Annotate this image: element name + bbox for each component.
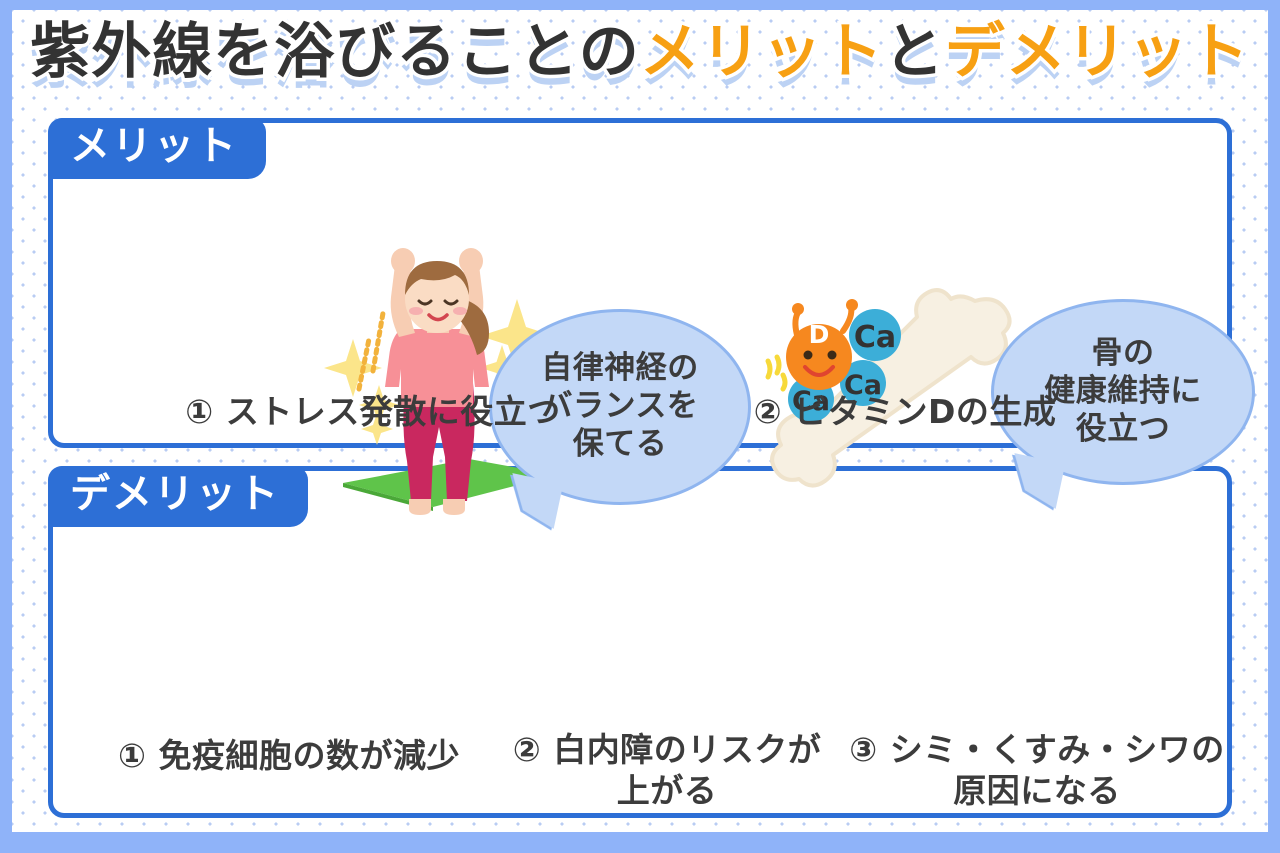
merit-panel: メリット	[48, 118, 1232, 448]
title-part-merit: メリット	[640, 17, 884, 87]
page-title-text: 紫外線を浴びることのメリットとデメリット	[30, 22, 1249, 82]
demerit-caption-1: ① 免疫細胞の数が減少	[61, 735, 517, 776]
shine-lines	[768, 357, 785, 389]
demerit-caption-3: ③ シミ・くすみ・シワの 原因になる	[837, 729, 1237, 812]
title-part-plain-1: 紫外線を浴びることの	[30, 17, 639, 87]
svg-text:Ca: Ca	[854, 320, 896, 355]
svg-text:D: D	[809, 320, 830, 349]
page-title: 紫外線を浴びることのメリットとデメリット 紫外線を浴びることのメリットとデメリッ…	[0, 22, 1280, 82]
demerit-badge: デメリット	[48, 466, 308, 527]
demerit-caption-2: ② 白内障のリスクが 上がる	[481, 729, 853, 812]
vitamin-d-character: D	[768, 299, 858, 390]
merit-badge: メリット	[48, 118, 266, 179]
title-part-demerit: デメリット	[945, 17, 1250, 87]
infographic-poster: 紫外線を浴びることのメリットとデメリット 紫外線を浴びることのメリットとデメリッ…	[0, 0, 1280, 853]
merit-caption-1: ① ストレス発散に役立つ	[113, 391, 633, 432]
merit-caption-2: ② ビタミンDの生成	[655, 391, 1155, 432]
demerit-panel: デメリット	[48, 466, 1232, 818]
title-part-plain-2: と	[884, 17, 945, 87]
